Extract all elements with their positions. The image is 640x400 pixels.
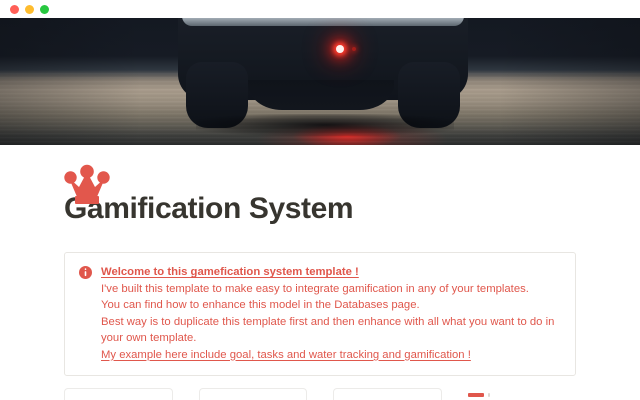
column-heading — [468, 388, 577, 400]
callout-block[interactable]: Welcome to this gamefication system temp… — [64, 252, 576, 376]
page-content: Gamification System Welcome to this game… — [0, 192, 640, 376]
column-list — [64, 388, 576, 400]
column-1[interactable] — [64, 388, 173, 400]
maximize-button[interactable] — [40, 5, 49, 14]
crown-icon[interactable] — [64, 163, 110, 205]
callout-text: Welcome to this gamefication system temp… — [101, 264, 561, 363]
column-3[interactable] — [333, 388, 442, 400]
app-window: Gamification System Welcome to this game… — [0, 0, 640, 400]
minimize-button[interactable] — [25, 5, 34, 14]
callout-line-4: Best way is to duplicate this template f… — [101, 314, 561, 347]
page-title: Gamification System — [64, 192, 576, 226]
callout-link[interactable]: My example here include goal, tasks and … — [101, 347, 561, 364]
column-heading-dot — [488, 393, 490, 397]
info-icon — [79, 266, 92, 279]
column-card[interactable] — [64, 388, 173, 400]
close-button[interactable] — [10, 5, 19, 14]
column-2[interactable] — [199, 388, 308, 400]
callout-line-3: You can find how to enhance this model i… — [101, 297, 561, 314]
column-card[interactable] — [199, 388, 308, 400]
cover-image[interactable] — [0, 18, 640, 145]
callout-line-2: I've built this template to make easy to… — [101, 281, 561, 298]
column-heading-accent — [468, 393, 484, 397]
callout-heading: Welcome to this gamefication system temp… — [101, 264, 561, 281]
cover-vignette — [0, 18, 640, 145]
title-bar — [0, 0, 640, 18]
column-4[interactable] — [468, 388, 577, 400]
column-card[interactable] — [333, 388, 442, 400]
